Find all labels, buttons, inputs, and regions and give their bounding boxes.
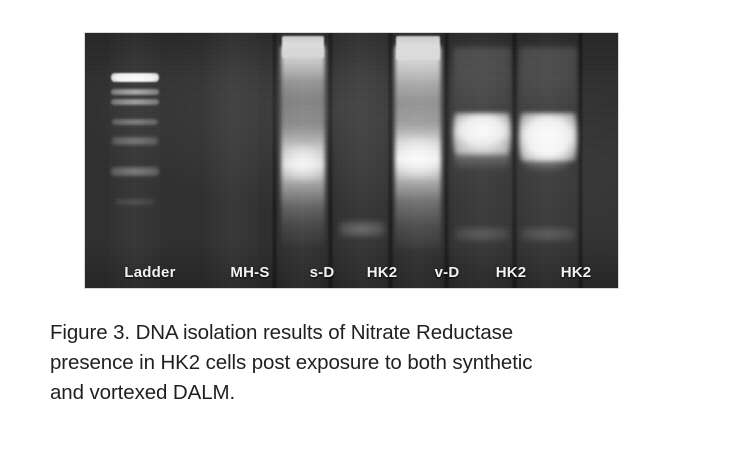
lane-label-ladder: Ladder [124, 264, 175, 281]
lane-divider-3 [387, 33, 394, 288]
hk2-lane7-band-tail [523, 145, 569, 173]
ladder-band-5 [112, 137, 158, 145]
lane-label-hk2-1: HK2 [367, 264, 398, 281]
vd-smear-core [397, 137, 439, 179]
hk2-lane6-upper-haze [453, 47, 511, 119]
hk2-lane6-band-tail [455, 145, 509, 171]
ladder-band-6 [111, 167, 159, 176]
figure-3-block: Ladder MH-S s-D HK2 v-D HK2 HK2 Figure 3… [0, 0, 739, 458]
lane-track-ladder [109, 33, 161, 288]
hk2-lane6-low-faint-band [455, 227, 509, 241]
sd-loading-well [282, 36, 324, 58]
lane-label-sd: s-D [310, 264, 335, 281]
lane-divider-2 [327, 33, 334, 288]
lane-label-vd: v-D [435, 264, 460, 281]
lane-divider-1 [271, 33, 278, 288]
gel-electrophoresis-image: Ladder MH-S s-D HK2 v-D HK2 HK2 [85, 33, 618, 288]
figure-caption: Figure 3. DNA isolation results of Nitra… [50, 318, 710, 408]
sd-smear-core [285, 145, 321, 181]
hk2-lane7-upper-haze [519, 47, 577, 119]
lane-divider-4 [443, 33, 450, 288]
lane-divider-6 [577, 33, 584, 288]
vd-loading-well [396, 36, 440, 60]
hk2-lane7-low-faint-band [521, 227, 575, 241]
ladder-band-3 [111, 99, 159, 105]
lane-track-hk2-1 [337, 33, 387, 288]
caption-line-2: presence in HK2 cells post exposure to b… [50, 348, 710, 378]
ladder-band-1 [111, 73, 159, 82]
lane-label-hk2-2: HK2 [496, 264, 527, 281]
caption-line-1: Figure 3. DNA isolation results of Nitra… [50, 318, 710, 348]
lane-divider-5 [511, 33, 518, 288]
ladder-band-7 [115, 199, 155, 205]
ladder-band-2 [111, 89, 159, 95]
lane-label-mhs: MH-S [230, 264, 269, 281]
hk2-lane4-faint-band [339, 221, 385, 237]
lane-track-mhs [207, 33, 259, 288]
lane-label-hk2-3: HK2 [561, 264, 592, 281]
ladder-band-4 [112, 119, 158, 125]
caption-line-3: and vortexed DALM. [50, 378, 710, 408]
